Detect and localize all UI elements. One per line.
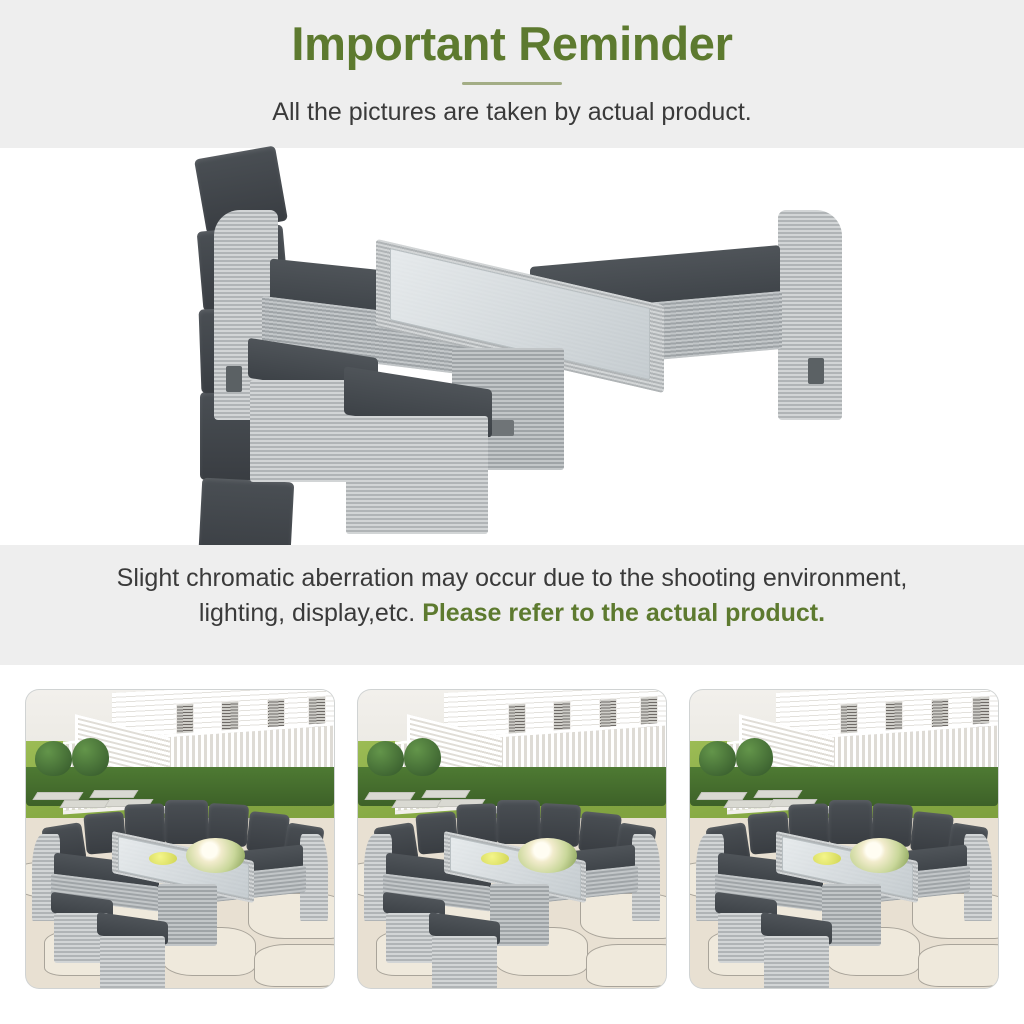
flower-arrangement (850, 838, 909, 873)
shrub-1 (35, 741, 72, 777)
header-subtitle: All the pictures are taken by actual pro… (0, 95, 1024, 129)
hero-product-image (200, 152, 850, 552)
disclaimer-line-2-accent: Please refer to the actual product. (422, 599, 825, 627)
disclaimer-line-2-plain: lighting, display,etc. (199, 599, 422, 627)
thumb-furniture-set (26, 779, 334, 988)
disclaimer-line-1: Slight chromatic aberration may occur du… (117, 564, 908, 592)
disclaimer-text: Slight chromatic aberration may occur du… (52, 561, 972, 631)
thumb-furniture-set (358, 779, 666, 988)
hero-sofa-arm-right (778, 210, 842, 420)
thumb-back-cushion-corner (497, 800, 540, 844)
gallery-thumbnail-1[interactable] (26, 690, 334, 988)
shrub-1 (367, 741, 404, 777)
thumb-ottoman-2-body (764, 936, 829, 988)
lemon-bowl (149, 852, 177, 865)
flower-arrangement (186, 838, 245, 873)
shrub-2 (72, 738, 109, 777)
shrub-1 (699, 741, 736, 777)
page-title: Important Reminder (0, 16, 1024, 72)
lemon-bowl (813, 852, 841, 865)
thumb-ottoman-2-body (100, 936, 165, 988)
hero-recliner-hinge-left (226, 366, 242, 392)
gallery-thumbnail-2[interactable] (358, 690, 666, 988)
title-divider-rule (462, 82, 562, 85)
gallery-thumbnail-3[interactable] (690, 690, 998, 988)
hero-furniture-scene (200, 152, 850, 552)
thumbnail-gallery (26, 690, 998, 988)
flower-arrangement (518, 838, 577, 873)
hero-ottoman-2-body (346, 416, 488, 534)
hero-recliner-hinge-right (808, 358, 824, 384)
thumb-back-cushion-corner (829, 800, 872, 844)
thumb-ottoman-2-body (432, 936, 497, 988)
lemon-bowl (481, 852, 509, 865)
thumb-back-cushion-corner (165, 800, 208, 844)
product-reminder-infographic: Important Reminder All the pictures are … (0, 0, 1024, 1024)
shrub-2 (736, 738, 773, 777)
thumb-furniture-set (690, 779, 998, 988)
shrub-2 (404, 738, 441, 777)
